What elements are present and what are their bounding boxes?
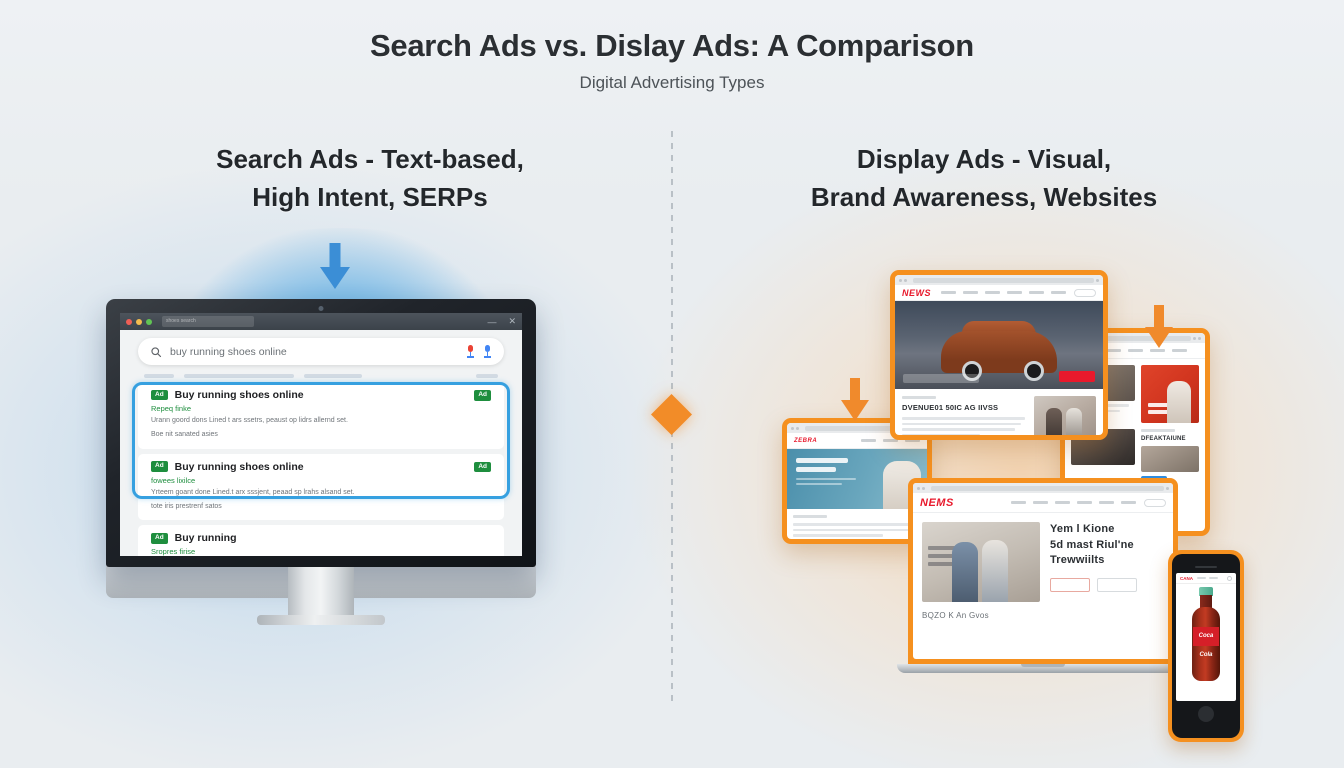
mini-browser-chrome [913,483,1173,493]
monitor-stand-neck [288,567,354,619]
arrow-head [1145,327,1173,348]
article-block: DVENUE01 50IC AG IIVSS [895,389,1103,435]
laptop-screen: NEMS Yem l Kione 5d mast Riul'ne Trewwii… [913,483,1173,659]
phone-speaker [1195,566,1217,568]
chrome-dot [922,487,925,490]
promo-text: Yem l Kione 5d mast Riul'ne Trewwiilts [1050,522,1164,602]
chrome-dot [791,427,794,430]
laptop-base [897,664,1189,673]
site-navbar: NEWS [895,285,1103,301]
card-thumbnail [1141,446,1199,472]
result-description-line1: Urann goord dons Lined t ars ssetrs, pea… [151,416,491,427]
address-bar[interactable] [931,486,1164,491]
arrow-shaft [330,243,341,269]
diamond-marker-icon [651,394,692,435]
phone-frame: CANA Coca Cola [1168,550,1244,742]
monitor-stand-base [257,615,385,625]
article-thumbnail [1034,396,1096,435]
model-figure [982,540,1008,602]
serp-tool-chip [476,374,498,378]
result-url: fowees lixilce [151,476,491,485]
down-arrow-icon-display-right [1142,305,1176,349]
promo-block: Yem l Kione 5d mast Riul'ne Trewwiilts [913,513,1173,611]
result-title-row: Ad Buy running shoes online [151,389,491,401]
result-url: Repeq finke [151,404,491,413]
laptop-trackpad-notch [1021,664,1065,667]
news-logo: NEWS [902,288,931,298]
laptop-lid: NEMS Yem l Kione 5d mast Riul'ne Trewwii… [908,478,1178,664]
article-text: DVENUE01 50IC AG IIVSS [902,396,1027,435]
promo-buttons [1050,578,1164,592]
phone-nav-links[interactable] [1197,577,1227,579]
phone-cart-icon[interactable] [1227,576,1232,581]
arrow-shaft [1154,305,1164,329]
nav-cta-button[interactable] [1074,289,1096,297]
ad-badge-right: Ad [474,462,491,473]
search-result-ad-1[interactable]: Ad Ad Buy running shoes online Repeq fin… [138,382,504,449]
promo-headline-line1: Yem l Kione [1050,522,1164,538]
car-wheel [1024,361,1044,381]
lens-capsule [485,345,490,352]
bottle-label: Coca Cola [1193,627,1219,646]
chrome-dot [899,279,902,282]
microphone-icon[interactable] [466,345,475,358]
results-list: Ad Ad Buy running shoes online Repeq fin… [138,382,504,556]
hero-title-bar [796,467,836,472]
display-ads-heading: Display Ads - Visual, Brand Awareness, W… [704,140,1264,217]
article-kicker [902,396,936,399]
page-title: Search Ads vs. Dislay Ads: A Comparison [0,28,1344,64]
monitor-bezel: shoes search — ✕ buy running shoes onlin… [106,299,536,567]
news-tablet-device[interactable]: NEWS DVENUE01 50IC AG IIVSS [890,270,1108,440]
nav-cta-button[interactable] [1144,499,1166,507]
nav-links[interactable] [1011,501,1136,504]
display-ads-heading-line2: Brand Awareness, Websites [704,178,1264,216]
body-text-lines [793,523,921,537]
section-kicker [793,515,827,518]
search-result-ad-3[interactable]: Ad Buy running Sropres firise Inteee is … [138,525,504,556]
serp-toolbar-row [138,371,504,380]
ad-badge: Ad [151,533,168,544]
mini-browser-chrome [895,275,1103,285]
news-tablet-screen: NEWS DVENUE01 50IC AG IIVSS [895,275,1103,435]
address-bar[interactable] [913,278,1094,283]
minimize-icon[interactable]: — [487,317,496,327]
close-icon[interactable]: ✕ [508,316,516,327]
search-ads-heading: Search Ads - Text-based, High Intent, SE… [90,140,650,217]
result-title[interactable]: Buy running [175,532,237,544]
promo-footer: BQZO K An Gvos [913,611,1173,626]
site-logo: ZEBRA [794,438,817,444]
magazine-feature-card[interactable]: DFEAKTAIUNE [1141,429,1199,484]
close-traffic-light-icon[interactable] [126,319,132,325]
site-navbar: NEMS [913,493,1173,513]
search-query-text: buy running shoes online [170,346,458,358]
ad-badge-right: Ad [474,390,491,401]
hero-cta-button[interactable] [1059,371,1095,382]
lens-icon[interactable] [483,345,492,358]
serp-tool-chip [184,374,294,378]
model-figure [1066,408,1082,435]
card-heading: DFEAKTAIUNE [1141,436,1199,442]
promo-headline-line3: Trewwiilts [1050,553,1164,569]
article-body-lines [902,417,1027,435]
display-ads-heading-line1: Display Ads - Visual, [704,140,1264,178]
article-headline: DVENUE01 50IC AG IIVSS [902,403,1027,412]
brand-wordmark: Coca Cola [1193,627,1219,665]
arrow-shaft [850,378,860,402]
arrow-head [841,400,869,421]
model-figure [1046,408,1062,435]
promo-primary-button[interactable] [1050,578,1090,592]
mic-capsule [468,345,473,352]
hero-text-line [796,483,842,485]
browser-tab[interactable]: shoes search [162,316,254,327]
phone-screen: CANA Coca Cola [1176,573,1236,701]
serp-tool-chip [144,374,174,378]
serp-tool-chip [304,374,362,378]
chrome-dot [1193,337,1196,340]
search-results-page: buy running shoes online [120,330,522,556]
promo-image [922,522,1040,602]
search-ads-heading-line2: High Intent, SERPs [90,178,650,216]
hero-text-line [796,478,856,480]
display-ads-device-group: ZEBRA [760,250,1300,720]
result-url: Sropres firise [151,547,491,556]
banner-model-figure [1167,381,1191,423]
laptop-device[interactable]: NEMS Yem l Kione 5d mast Riul'ne Trewwii… [908,478,1178,673]
news-logo: NEMS [920,497,954,509]
search-input[interactable]: buy running shoes online [138,338,504,365]
phone-site-logo: CANA [1180,576,1193,581]
promo-secondary-button[interactable] [1097,578,1137,592]
tablet-left-screen: ZEBRA [787,423,927,539]
smartphone-device[interactable]: CANA Coca Cola [1168,550,1244,742]
page-subtitle: Digital Advertising Types [0,73,1344,93]
tablet-left-body [787,509,927,539]
desktop-monitor: shoes search — ✕ buy running shoes onlin… [106,299,536,589]
monitor-screen: shoes search — ✕ buy running shoes onlin… [120,313,522,556]
result-description-line2: tote iris prestrenf satos [151,502,491,513]
phone-body: CANA Coca Cola [1172,554,1240,738]
minimize-traffic-light-icon[interactable] [136,319,142,325]
chrome-dot [1166,487,1169,490]
result-description-line1: Yrteem goant done Lined.t arx sssjent, p… [151,488,491,499]
model-figure [952,542,978,602]
lens-base [484,356,491,358]
result-title[interactable]: Buy running shoes online [175,461,304,473]
ad-badge: Ad [151,390,168,401]
page-header: Search Ads vs. Dislay Ads: A Comparison … [0,28,1344,93]
chrome-dot [1096,279,1099,282]
promo-headline-line2: 5d mast Riul'ne [1050,538,1164,554]
search-icon [150,346,162,358]
result-description-line2: Boe nit sanated asies [151,430,491,441]
chrome-dot [1198,337,1201,340]
hero-title-bar [796,458,848,463]
mic-base [467,356,474,358]
hero-banner [787,449,927,509]
nav-links[interactable] [941,291,1066,294]
hero-caption [903,374,979,383]
maximize-traffic-light-icon[interactable] [146,319,152,325]
section-kicker [1141,429,1175,432]
fashion-banner-ad[interactable] [1141,365,1199,423]
arrow-head [320,267,350,289]
webcam-icon [319,306,324,311]
chrome-dot [917,487,920,490]
car-hero-banner[interactable] [895,301,1103,389]
ad-badge: Ad [151,461,168,472]
chrome-dot [904,279,907,282]
result-title-row: Ad Buy running [151,532,491,544]
browser-titlebar: shoes search — ✕ [120,313,522,330]
phone-home-button[interactable] [1198,706,1214,722]
phone-site-navbar: CANA [1176,573,1236,584]
result-title-row: Ad Buy running shoes online [151,461,491,473]
search-result-ad-2[interactable]: Ad Ad Buy running shoes online fowees li… [138,454,504,521]
result-title[interactable]: Buy running shoes online [175,389,304,401]
search-ads-heading-line1: Search Ads - Text-based, [90,140,650,178]
chrome-dot [796,427,799,430]
down-arrow-icon-search [318,243,352,289]
coca-cola-product-image: Coca Cola [1191,587,1221,683]
down-arrow-icon-display-left [838,378,872,422]
